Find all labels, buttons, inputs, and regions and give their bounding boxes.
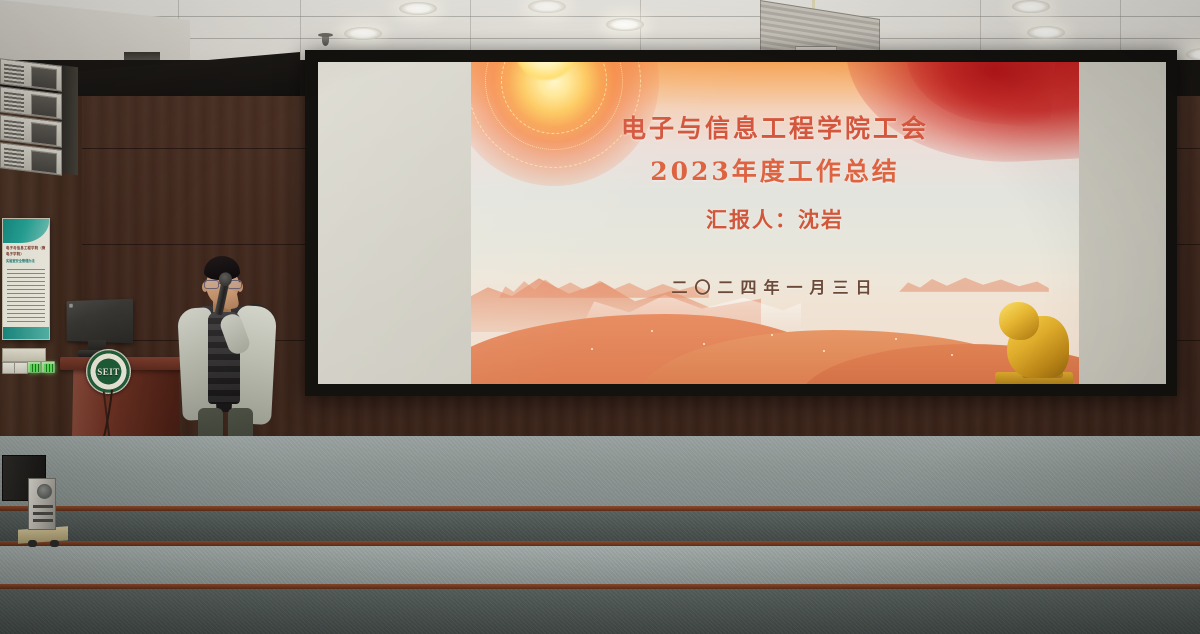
step-tread <box>0 546 1200 584</box>
seit-emblem: SEIT <box>86 349 131 394</box>
slide-presenter: 汇报人：沈岩 <box>471 204 1079 234</box>
lower-step-riser <box>0 589 1200 634</box>
monitor-screen-back <box>67 299 133 343</box>
podium-monitor <box>64 300 132 357</box>
equipment-caster <box>50 540 59 547</box>
poster-header-band <box>3 219 49 243</box>
equipment-chassis <box>28 478 56 530</box>
slide-title-line-2: 2023年度工作总结 <box>471 152 1079 188</box>
lecture-hall-photo: 电子与信息工程学院（微电子学院） 实验室安全管理办法 <box>0 0 1200 634</box>
illuminated-control-panel[interactable] <box>41 361 55 373</box>
downlight <box>606 18 644 31</box>
projection-screen-surface: 电子与信息工程学院工会 2023年度工作总结 汇报人：沈岩 二〇二四年一月三日 <box>318 62 1166 384</box>
downlight <box>1012 0 1050 13</box>
poster-title: 电子与信息工程学院（微电子学院） <box>6 245 46 257</box>
poster-subtitle: 实验室安全管理办法 <box>6 259 46 264</box>
downlight <box>1027 26 1065 39</box>
equipment-dial[interactable] <box>37 484 52 499</box>
light-switch-plate[interactable] <box>14 362 28 374</box>
projection-screen-frame: 电子与信息工程学院工会 2023年度工作总结 汇报人：沈岩 二〇二四年一月三日 <box>305 50 1177 396</box>
poster-footer-band <box>3 327 49 339</box>
illuminated-control-panel[interactable] <box>27 361 41 373</box>
emblem-outer-ring <box>86 349 131 394</box>
downlight <box>399 2 437 15</box>
presentation-slide: 电子与信息工程学院工会 2023年度工作总结 汇报人：沈岩 二〇二四年一月三日 <box>471 62 1079 384</box>
step-riser <box>0 511 1200 541</box>
downlight <box>528 0 566 13</box>
slide-title-line-1: 电子与信息工程学院工会 <box>471 109 1079 145</box>
stage-platform <box>0 436 1200 510</box>
av-equipment-unit <box>26 478 60 540</box>
slide-text-block: 电子与信息工程学院工会 2023年度工作总结 汇报人：沈岩 二〇二四年一月三日 <box>471 62 1079 384</box>
poster-body-text <box>7 269 45 323</box>
speaker-module <box>0 142 62 176</box>
line-array-speaker-stack <box>0 62 74 180</box>
wall-notice-poster: 电子与信息工程学院（微电子学院） 实验室安全管理办法 <box>2 218 50 340</box>
sprinkler-head-icon <box>322 35 329 46</box>
equipment-caster <box>28 540 37 547</box>
downlight <box>344 27 382 40</box>
wall-small-sign <box>2 348 46 362</box>
slide-date: 二〇二四年一月三日 <box>471 274 1079 298</box>
